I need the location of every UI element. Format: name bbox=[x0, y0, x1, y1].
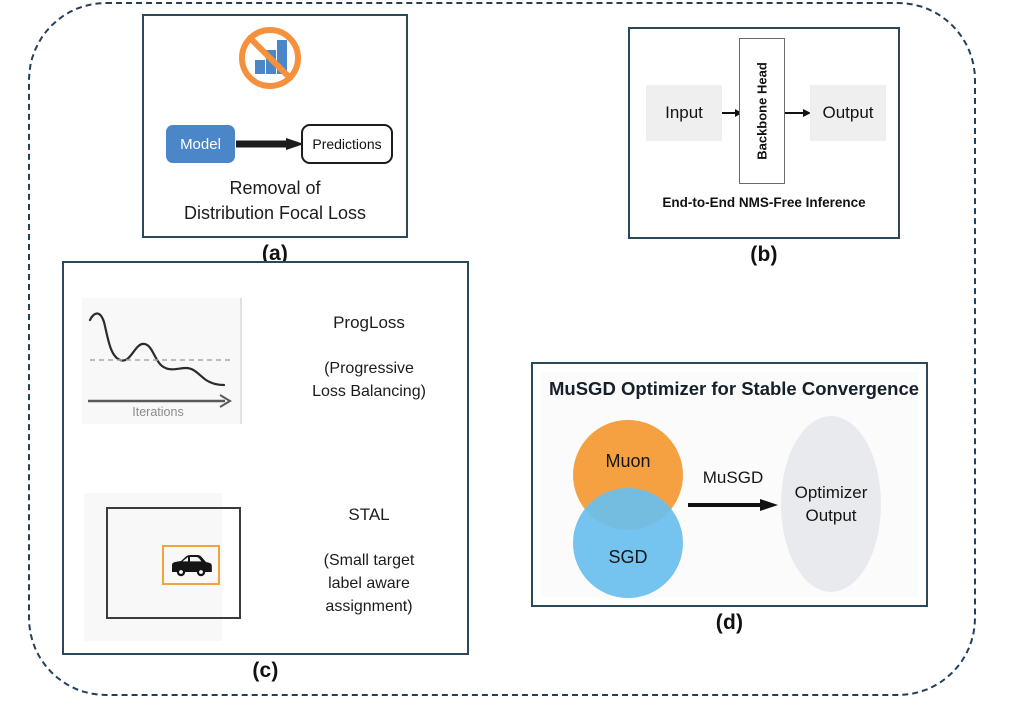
panel-d: MuSGD Optimizer for Stable Convergence M… bbox=[531, 362, 928, 607]
sgd-circle: SGD bbox=[573, 488, 683, 598]
no-distribution-focal-loss-icon bbox=[236, 24, 304, 92]
car-icon bbox=[169, 553, 213, 577]
model-to-predictions-arrow-icon bbox=[236, 138, 304, 150]
input-label: Input bbox=[665, 103, 703, 123]
thumbnail-divider bbox=[240, 298, 242, 424]
panel-b-label: (b) bbox=[628, 243, 900, 267]
backbone-to-output-arrow-icon bbox=[785, 108, 811, 118]
panel-b: Input Backbone Head Output End-to-End NM… bbox=[628, 27, 900, 239]
panel-a-caption: Removal of Distribution Focal Loss bbox=[144, 176, 406, 226]
progloss-thumbnail: Iterations bbox=[82, 298, 242, 424]
stal-sub-line2: label aware bbox=[279, 572, 459, 595]
panel-a-content: Model Predictions Removal of Distributio… bbox=[144, 16, 406, 236]
predictions-box: Predictions bbox=[301, 124, 393, 164]
panel-d-title: MuSGD Optimizer for Stable Convergence bbox=[549, 378, 919, 400]
stal-text-block: STAL (Small target label aware assignmen… bbox=[279, 503, 459, 618]
iterations-axis-label: Iterations bbox=[82, 405, 234, 419]
musgd-to-output-arrow-icon bbox=[688, 498, 778, 512]
panel-a: Model Predictions Removal of Distributio… bbox=[142, 14, 408, 238]
model-box: Model bbox=[166, 125, 235, 163]
panel-c-label: (c) bbox=[62, 659, 469, 683]
output-label: Output bbox=[822, 103, 873, 123]
optimizer-output-line2: Output bbox=[795, 504, 868, 527]
panel-b-caption: End-to-End NMS-Free Inference bbox=[630, 195, 898, 210]
musgd-arrow-label: MuSGD bbox=[688, 468, 778, 488]
output-box: Output bbox=[810, 85, 886, 141]
panel-c: Iterations ProgLoss (Progressive Loss Ba… bbox=[62, 261, 469, 655]
stal-sub-line3: assignment) bbox=[279, 595, 459, 618]
backbone-head-box: Backbone Head bbox=[739, 38, 785, 184]
progloss-sub-line2: Loss Balancing) bbox=[279, 380, 459, 403]
small-target-bounding-box bbox=[162, 545, 220, 585]
stal-thumbnail bbox=[84, 493, 222, 641]
stal-title: STAL bbox=[279, 503, 459, 527]
muon-label: Muon bbox=[605, 451, 650, 472]
panel-d-label: (d) bbox=[531, 611, 928, 635]
backbone-head-label: Backbone Head bbox=[755, 62, 770, 160]
progloss-text-block: ProgLoss (Progressive Loss Balancing) bbox=[279, 311, 459, 403]
input-box: Input bbox=[646, 85, 722, 141]
progloss-sub-line1: (Progressive bbox=[279, 357, 459, 380]
stal-sub-line1: (Small target bbox=[279, 549, 459, 572]
optimizer-output-ellipse: Optimizer Output bbox=[781, 416, 881, 592]
predictions-label: Predictions bbox=[312, 136, 381, 152]
panel-a-caption-line1: Removal of bbox=[144, 176, 406, 201]
figure-canvas: Model Predictions Removal of Distributio… bbox=[0, 0, 1032, 713]
optimizer-output-line1: Optimizer bbox=[795, 481, 868, 504]
model-label: Model bbox=[180, 136, 221, 153]
panel-a-caption-line2: Distribution Focal Loss bbox=[144, 201, 406, 226]
progloss-title: ProgLoss bbox=[279, 311, 459, 335]
sgd-label: SGD bbox=[608, 547, 647, 568]
